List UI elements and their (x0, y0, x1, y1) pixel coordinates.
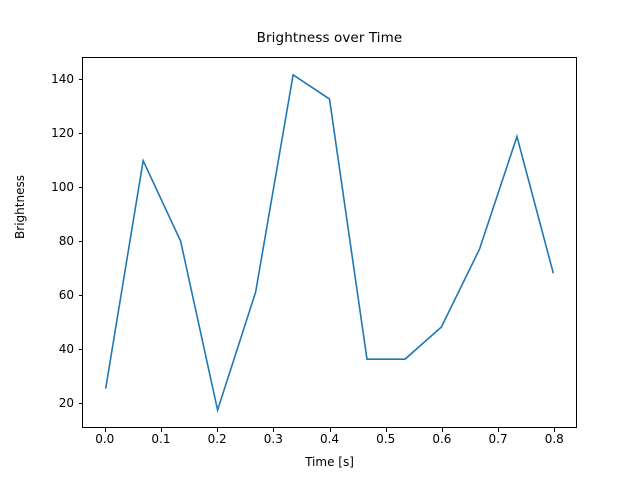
y-tick-label: 40 (59, 342, 74, 356)
figure-canvas: Brightness over Time Brightness 20406080… (0, 0, 640, 480)
y-tick-label: 140 (51, 72, 74, 86)
plot-area (82, 57, 577, 428)
x-tick-mark (442, 428, 443, 432)
y-tick-label: 20 (59, 396, 74, 410)
x-tick-label: 0.8 (545, 432, 564, 446)
x-tick-mark (217, 428, 218, 432)
x-tick-mark (330, 428, 331, 432)
x-tick-label: 0.7 (489, 432, 508, 446)
x-axis-label: Time [s] (82, 455, 577, 469)
x-tick-label: 0.4 (320, 432, 339, 446)
x-tick-label: 0.6 (432, 432, 451, 446)
y-tick-label: 80 (59, 234, 74, 248)
x-tick-mark (554, 428, 555, 432)
x-tick-mark (105, 428, 106, 432)
y-axis-tick-labels: 20406080100120140 (0, 57, 74, 428)
x-tick-label: 0.0 (95, 432, 114, 446)
x-tick-label: 0.1 (151, 432, 170, 446)
x-axis-tick-labels: 0.00.10.20.30.40.50.60.70.8 (82, 432, 577, 452)
x-tick-mark (161, 428, 162, 432)
brightness-line-series (106, 75, 554, 410)
x-tick-mark (273, 428, 274, 432)
x-tick-label: 0.5 (376, 432, 395, 446)
chart-title: Brightness over Time (82, 30, 577, 46)
y-tick-label: 60 (59, 288, 74, 302)
x-tick-label: 0.3 (264, 432, 283, 446)
x-tick-mark (386, 428, 387, 432)
data-series-svg (83, 58, 576, 427)
y-tick-label: 120 (51, 126, 74, 140)
x-tick-label: 0.2 (208, 432, 227, 446)
y-tick-label: 100 (51, 180, 74, 194)
x-tick-mark (498, 428, 499, 432)
